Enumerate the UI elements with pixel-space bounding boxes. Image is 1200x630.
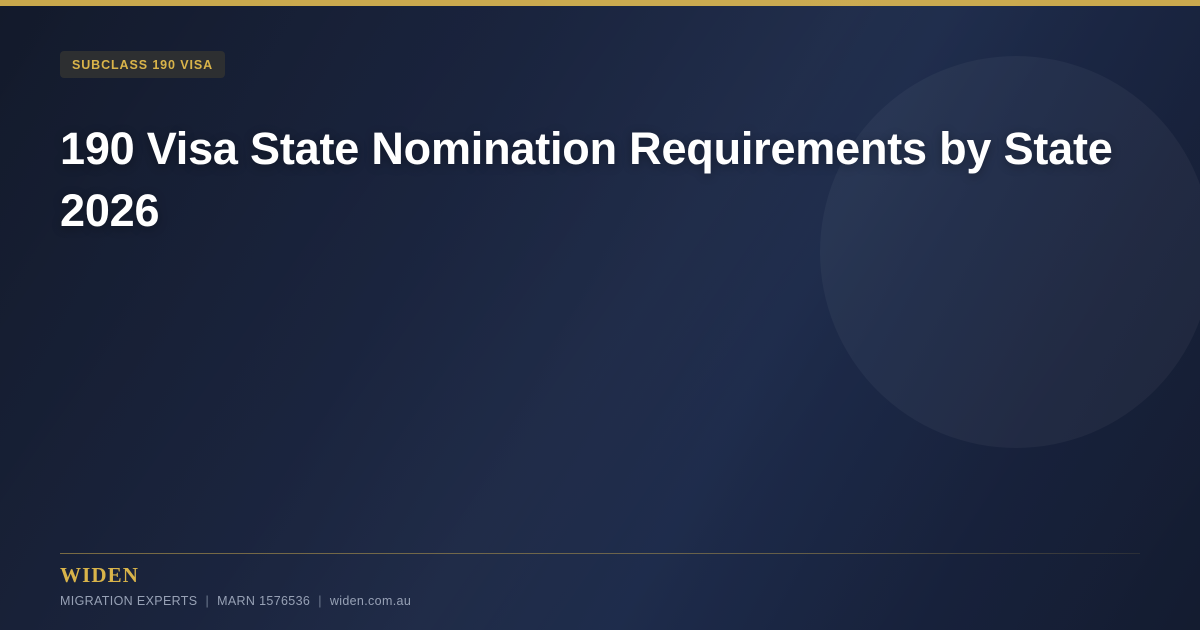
og-banner-card: SUBCLASS 190 VISA 190 Visa State Nominat… (0, 0, 1200, 630)
card-content: SUBCLASS 190 VISA 190 Visa State Nominat… (0, 0, 1200, 630)
website-url: widen.com.au (330, 595, 411, 608)
footer: WIDEN MIGRATION EXPERTS | MARN 1576536 |… (60, 553, 1140, 608)
brand-tagline: MIGRATION EXPERTS (60, 595, 197, 608)
brand-logo-wordmark: WIDEN (60, 565, 1140, 586)
brand-meta-line: MIGRATION EXPERTS | MARN 1576536 | widen… (60, 595, 1140, 608)
meta-separator-1: | (197, 595, 217, 608)
marn-number: MARN 1576536 (217, 595, 310, 608)
status-badge: SUBCLASS 190 VISA (60, 51, 225, 78)
page-title: 190 Visa State Nomination Requirements b… (60, 118, 1120, 242)
meta-separator-2: | (310, 595, 330, 608)
footer-divider (60, 553, 1140, 554)
